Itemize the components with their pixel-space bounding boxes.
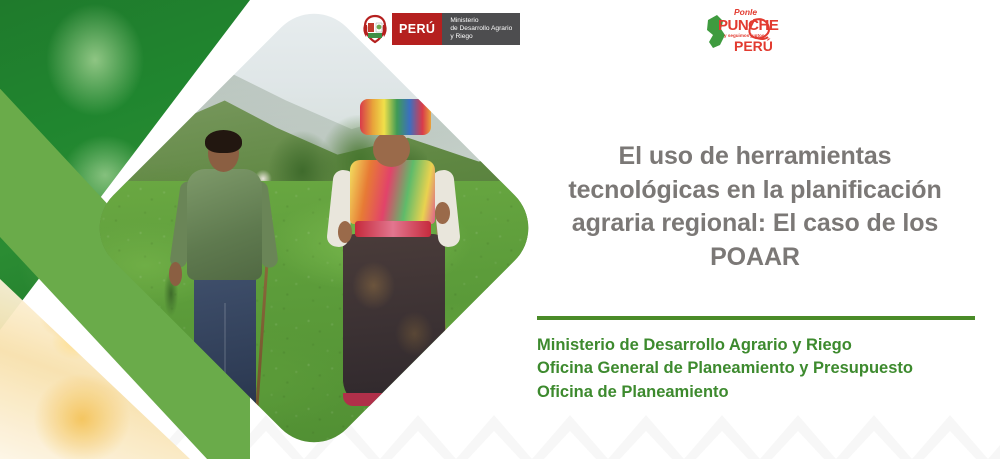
- photo-female-farmer: [333, 106, 455, 426]
- main-photo-frame: [88, 2, 540, 454]
- title-line-1: El uso de herramientas: [520, 140, 990, 174]
- ministry-line-2: de Desarrollo Agrario: [450, 25, 512, 33]
- punche-line-2: PUNCHE: [718, 17, 779, 34]
- title-line-3: agraria regional: El caso de los: [520, 207, 990, 241]
- title-line-4: POAAR: [520, 241, 990, 275]
- punche-line-1: Ponle: [734, 7, 757, 17]
- woman-traditional-shawl: [350, 160, 436, 224]
- punche-line-4: PERÚ: [734, 37, 773, 54]
- org-line-2: Oficina General de Planeamiento y Presup…: [537, 357, 987, 380]
- andean-farmers-photo: [81, 0, 548, 459]
- peru-coat-of-arms-icon: [362, 13, 388, 45]
- woman-belt: [355, 221, 431, 237]
- peru-ministry-logo: PERÚ Ministerio de Desarrollo Agrario y …: [362, 13, 520, 45]
- woman-skirt: [343, 234, 446, 407]
- ministry-line-1: Ministerio: [450, 17, 512, 25]
- ministry-name-block: Ministerio de Desarrollo Agrario y Riego: [442, 13, 520, 45]
- green-divider-rule: [537, 316, 975, 320]
- slide-title: El uso de herramientas tecnológicas en l…: [520, 140, 990, 274]
- man-leg-split: [224, 303, 226, 425]
- title-line-2: tecnológicas en la planificación: [520, 174, 990, 208]
- ministry-line-3: y Riego: [450, 33, 512, 41]
- diamond-photo-mask: [81, 0, 548, 459]
- ponle-punche-peru-logo: Ponle PUNCHE y seguimos juntos PERÚ: [698, 4, 790, 54]
- peru-wordmark: PERÚ: [392, 13, 442, 45]
- man-hand: [169, 262, 182, 285]
- man-hair: [205, 130, 242, 153]
- woman-right-hand: [435, 202, 450, 224]
- woman-skirt-hem: [343, 393, 446, 406]
- photo-male-farmer: [173, 134, 276, 425]
- photo-crop-field: [81, 181, 548, 459]
- organization-block: Ministerio de Desarrollo Agrario y Riego…: [537, 334, 987, 404]
- presentation-slide: PERÚ Ministerio de Desarrollo Agrario y …: [0, 0, 1000, 459]
- org-line-3: Oficina de Planeamiento: [537, 381, 987, 404]
- woman-head: [373, 131, 410, 166]
- woman-traditional-hat: [360, 99, 431, 134]
- org-line-1: Ministerio de Desarrollo Agrario y Riego: [537, 334, 987, 357]
- man-green-sweater: [187, 169, 261, 280]
